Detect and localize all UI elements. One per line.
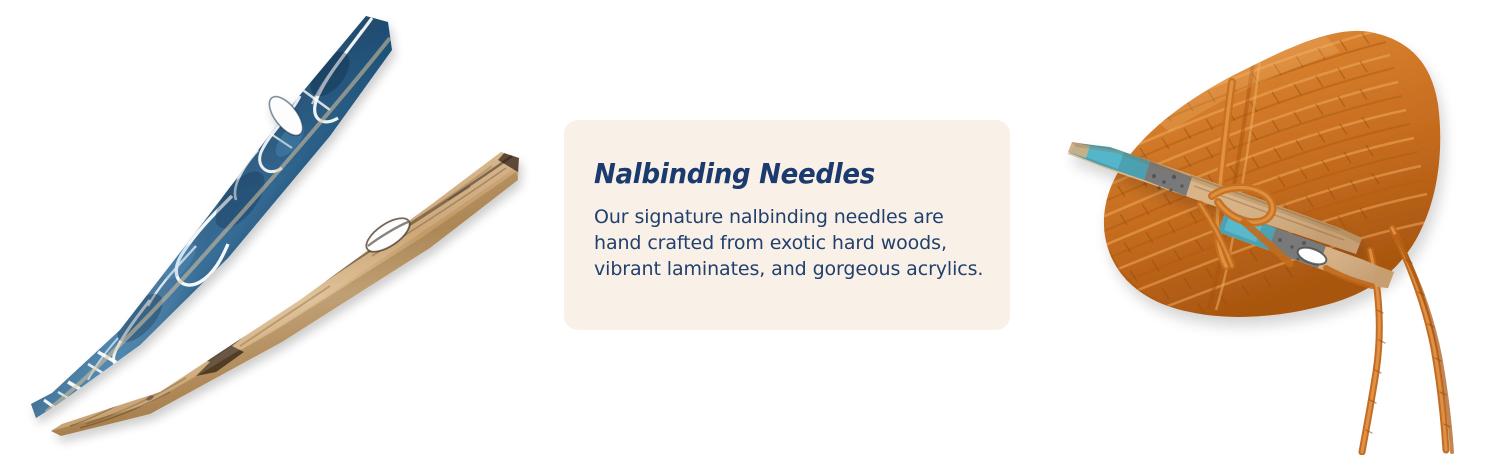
nalbinding-needles-banner: Nalbinding Needles Our signature nalbind… (0, 0, 1500, 455)
nalbinded-mitten-photo-right (1040, 0, 1500, 455)
card-title: Nalbinding Needles (594, 158, 949, 190)
card-description-line-3: vibrant laminates, and gorgeous acrylics… (594, 256, 976, 282)
mitten-illustration (1040, 0, 1500, 455)
blue-acrylic-needle (31, 16, 392, 418)
needles-photo-left (0, 0, 540, 455)
card-description-line-1: Our signature nalbinding needles are (594, 204, 976, 230)
card-description-line-2: hand crafted from exotic hard woods, (594, 230, 976, 256)
yarn-tails (1362, 228, 1452, 452)
card-description: Our signature nalbinding needles are han… (594, 204, 976, 282)
nalbinding-needles-card: Nalbinding Needles Our signature nalbind… (564, 120, 1010, 330)
needles-illustration (0, 0, 540, 455)
wooden-needle (51, 152, 519, 436)
